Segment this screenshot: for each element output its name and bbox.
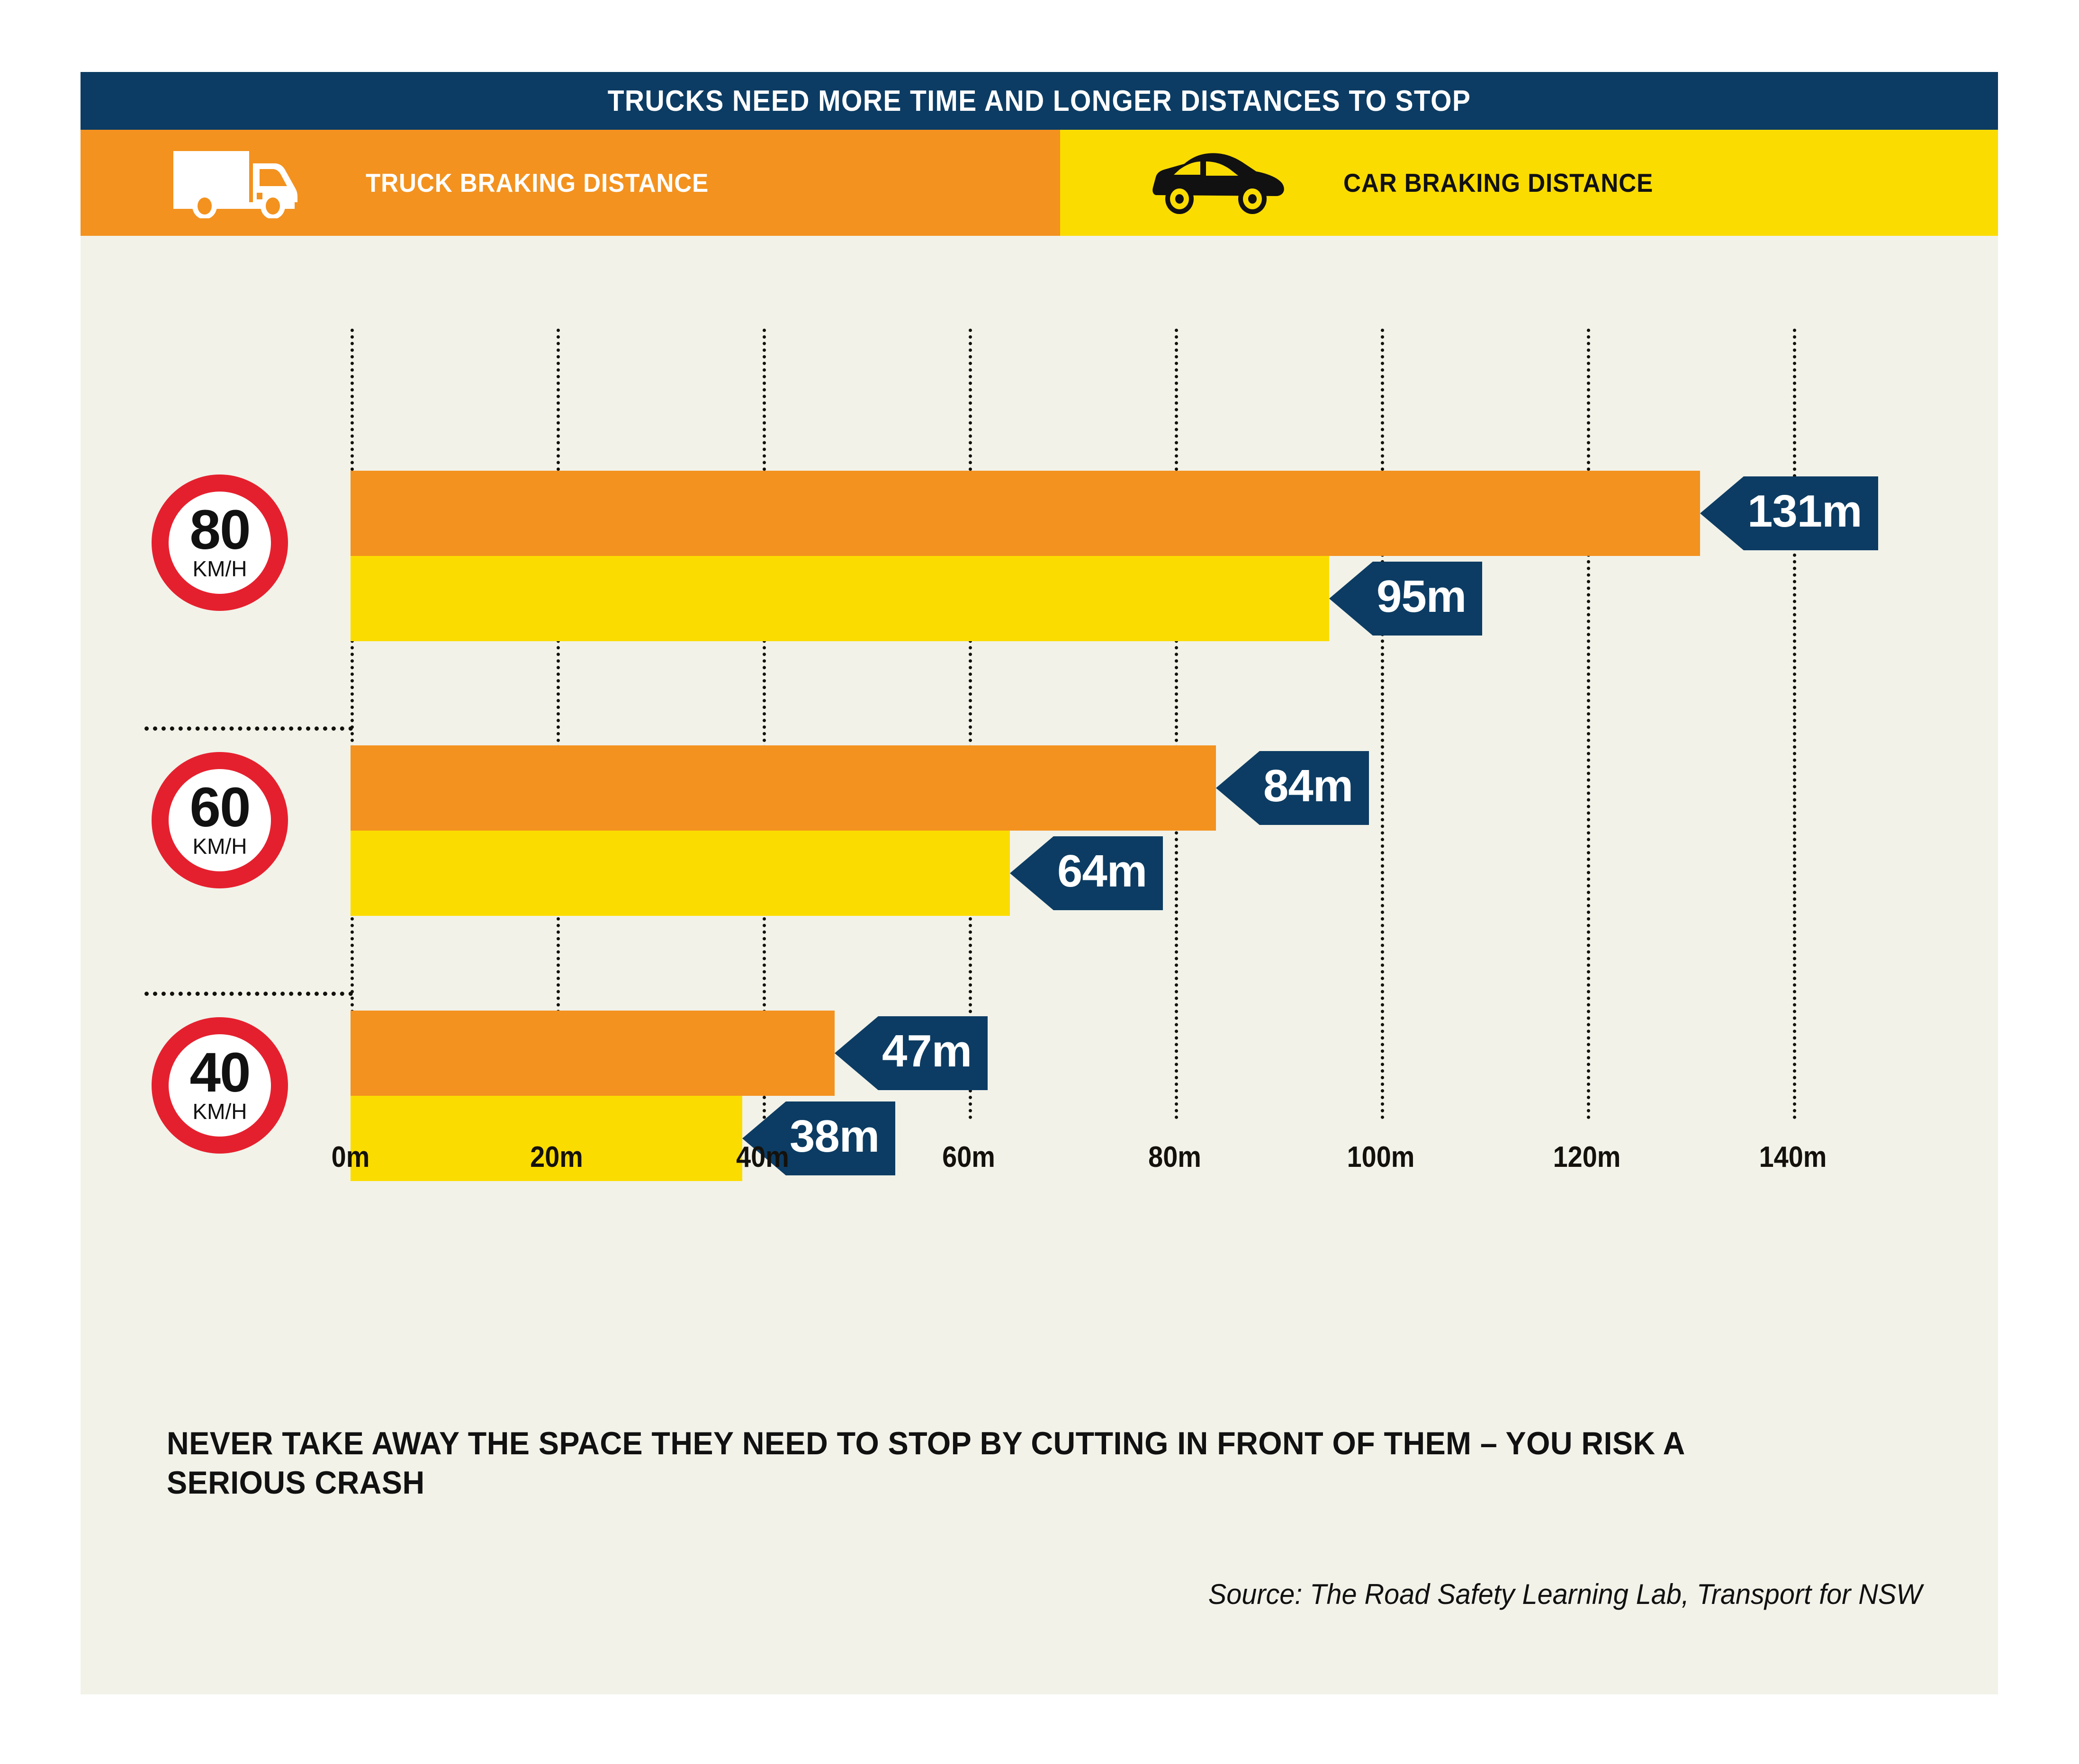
gridline-80m: [1175, 329, 1178, 1119]
speed-sign-unit: KM/H: [193, 835, 247, 857]
callout-box: 38m: [786, 1101, 895, 1175]
callout-car-80: 95m: [1329, 562, 1482, 636]
callout-arrow-icon: [835, 1016, 878, 1090]
callout-truck-40: 47m: [835, 1016, 988, 1090]
callout-arrow-icon: [1329, 562, 1373, 636]
speed-sign-60: 60 KM/H: [152, 752, 288, 888]
gridline-0m: [351, 329, 354, 1119]
legend-label-truck: TRUCK BRAKING DISTANCE: [366, 168, 709, 198]
bar-truck-80: [351, 471, 1700, 556]
callout-arrow-icon: [1700, 476, 1744, 550]
legend-item-car: CAR BRAKING DISTANCE: [1060, 130, 1998, 236]
car-icon: [1150, 150, 1287, 216]
chart-plot-area: 80 KM/H 131m 95m 60 KM/H 8: [81, 236, 1998, 1448]
legend: TRUCK BRAKING DISTANCE CAR BRAKING DISTA…: [81, 130, 1998, 236]
bar-car-60: [351, 831, 1010, 916]
x-tick-20m: 20m: [530, 1140, 583, 1174]
row-separator-1: [144, 726, 353, 731]
gridline-40m: [763, 329, 766, 1119]
speed-sign-40: 40 KM/H: [152, 1017, 288, 1154]
speed-sign-unit: KM/H: [193, 1101, 247, 1122]
x-tick-140m: 140m: [1759, 1140, 1827, 1174]
header-bar: TRUCKS NEED MORE TIME AND LONGER DISTANC…: [81, 72, 1998, 130]
callout-label: 84m: [1263, 763, 1353, 809]
gridline-120m: [1587, 329, 1590, 1119]
infographic-panel: TRUCKS NEED MORE TIME AND LONGER DISTANC…: [81, 72, 1998, 1694]
x-tick-120m: 120m: [1553, 1140, 1621, 1174]
legend-item-truck: TRUCK BRAKING DISTANCE: [81, 130, 1060, 236]
bar-car-80: [351, 556, 1329, 641]
gridline-20m: [557, 329, 560, 1119]
gridline-140m: [1793, 329, 1796, 1119]
callout-label: 38m: [790, 1114, 879, 1159]
safety-message: NEVER TAKE AWAY THE SPACE THEY NEED TO S…: [167, 1424, 1742, 1503]
x-tick-60m: 60m: [942, 1140, 995, 1174]
row-separator-2: [144, 992, 353, 996]
speed-sign-value: 80: [189, 506, 250, 555]
callout-label: 131m: [1747, 489, 1862, 534]
callout-arrow-icon: [1010, 836, 1053, 910]
speed-sign-value: 60: [189, 783, 250, 833]
legend-label-car: CAR BRAKING DISTANCE: [1343, 168, 1653, 198]
callout-box: 64m: [1053, 836, 1163, 910]
callout-label: 47m: [882, 1029, 972, 1074]
callout-label: 64m: [1057, 849, 1147, 894]
callout-truck-60: 84m: [1216, 751, 1369, 825]
speed-sign-value: 40: [189, 1048, 250, 1098]
page-title: TRUCKS NEED MORE TIME AND LONGER DISTANC…: [157, 72, 1921, 130]
callout-box: 84m: [1260, 751, 1369, 825]
gridline-60m: [969, 329, 972, 1119]
source-attribution: Source: The Road Safety Learning Lab, Tr…: [1208, 1578, 1922, 1611]
x-tick-100m: 100m: [1347, 1140, 1415, 1174]
gridline-100m: [1381, 329, 1384, 1119]
speed-sign-80: 80 KM/H: [152, 475, 288, 611]
callout-label: 95m: [1377, 574, 1466, 619]
callout-box: 47m: [878, 1016, 988, 1090]
callout-truck-80: 131m: [1700, 476, 1878, 550]
x-tick-80m: 80m: [1148, 1140, 1201, 1174]
callout-box: 131m: [1744, 476, 1878, 550]
speed-sign-unit: KM/H: [193, 558, 247, 580]
callout-car-60: 64m: [1010, 836, 1163, 910]
bar-truck-60: [351, 745, 1216, 831]
bar-truck-40: [351, 1011, 835, 1096]
truck-icon: [171, 147, 314, 218]
callout-arrow-icon: [1216, 751, 1260, 825]
callout-box: 95m: [1373, 562, 1482, 636]
x-tick-0m: 0m: [332, 1140, 370, 1174]
x-tick-40m: 40m: [736, 1140, 789, 1174]
